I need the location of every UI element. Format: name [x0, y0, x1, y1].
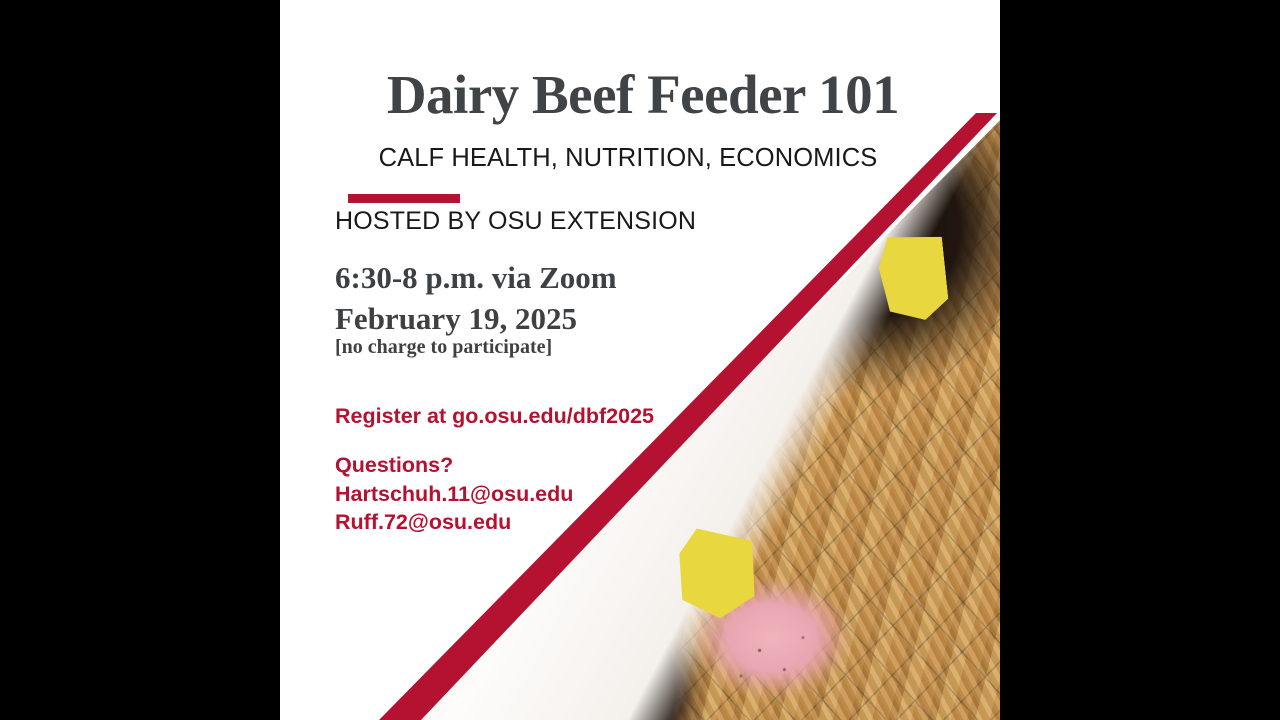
video-frame: Dairy Beef Feeder 101 CALF HEALTH, NUTRI…	[0, 0, 1280, 720]
questions-label: Questions?	[335, 451, 573, 480]
letterbox-left	[0, 0, 280, 720]
contact-email-ruff[interactable]: Ruff.72@osu.edu	[335, 508, 573, 537]
event-flyer: Dairy Beef Feeder 101 CALF HEALTH, NUTRI…	[280, 0, 1000, 720]
contact-email-hartschuh[interactable]: Hartschuh.11@osu.edu	[335, 480, 573, 509]
page-title: Dairy Beef Feeder 101	[313, 66, 973, 124]
registration-link[interactable]: Register at go.osu.edu/dbf2025	[335, 404, 654, 429]
event-date: February 19, 2025	[335, 298, 617, 339]
flyer-text-content: Dairy Beef Feeder 101 CALF HEALTH, NUTRI…	[280, 0, 1000, 720]
letterbox-right	[1000, 0, 1280, 720]
no-charge-note: [no charge to participate]	[335, 336, 552, 359]
hosted-by-label: HOSTED BY OSU EXTENSION	[335, 207, 696, 236]
event-schedule: 6:30-8 p.m. via Zoom February 19, 2025	[335, 257, 617, 339]
questions-block: Questions? Hartschuh.11@osu.edu Ruff.72@…	[335, 451, 573, 537]
red-accent-bar	[348, 194, 460, 203]
flyer-subtitle: CALF HEALTH, NUTRITION, ECONOMICS	[313, 144, 943, 173]
event-time: 6:30-8 p.m. via Zoom	[335, 257, 617, 298]
